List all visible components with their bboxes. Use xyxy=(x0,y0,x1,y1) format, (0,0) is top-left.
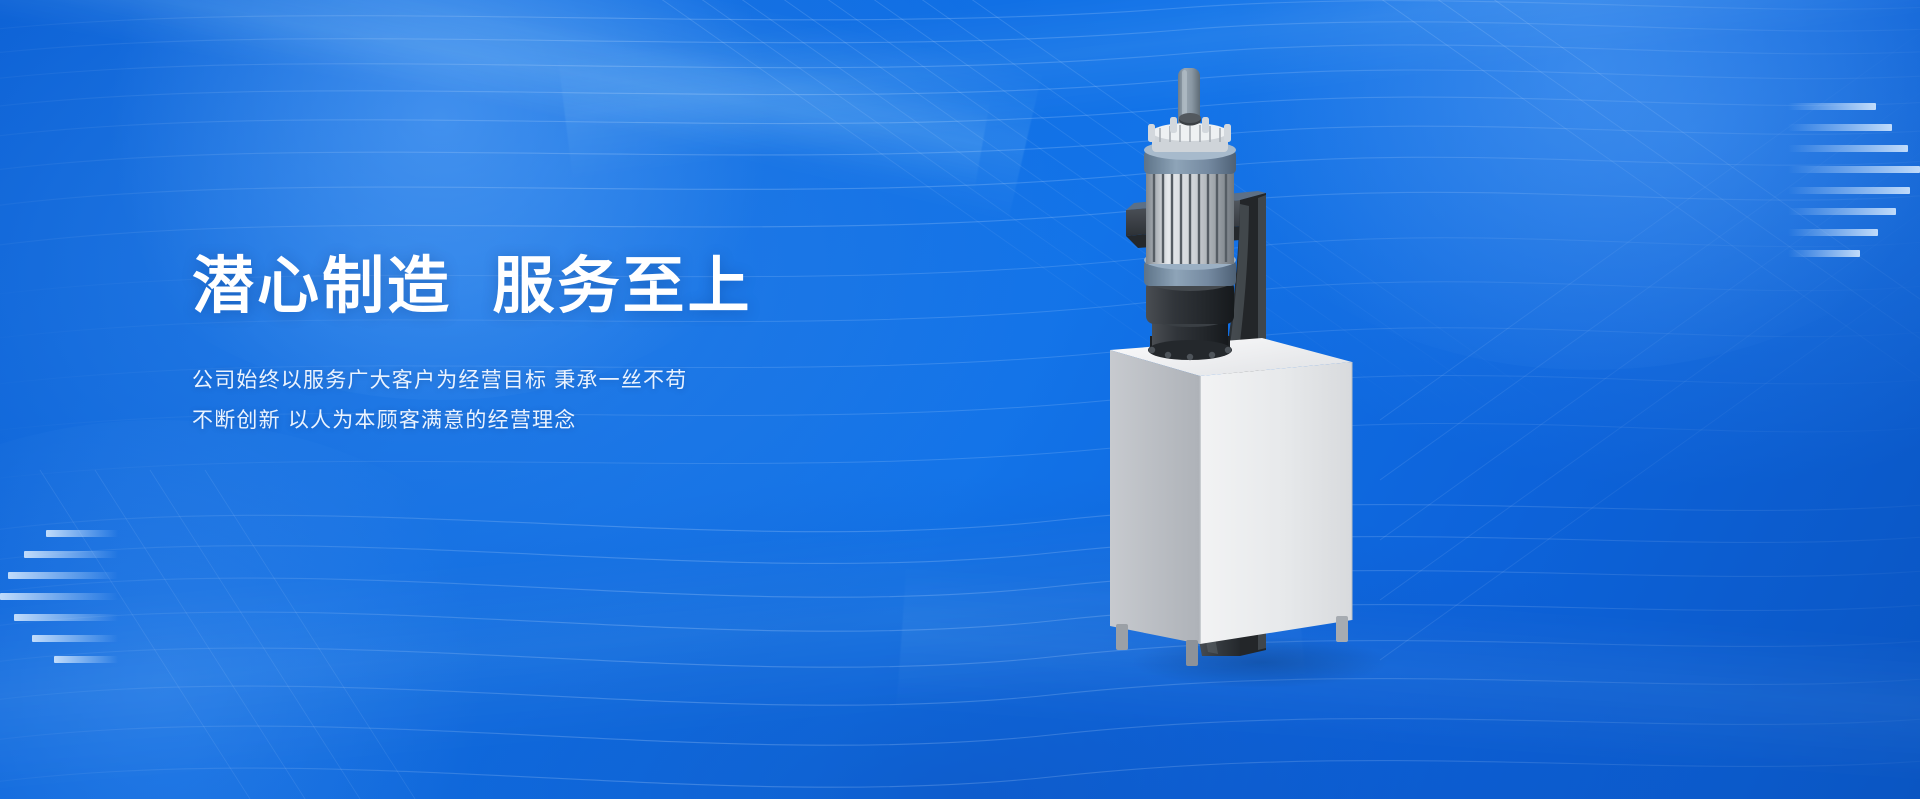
decor-bar xyxy=(1788,166,1920,173)
decor-bars-left xyxy=(0,530,118,677)
decor-bar xyxy=(1788,145,1908,152)
decor-bar xyxy=(54,656,118,663)
background-glow xyxy=(0,420,540,799)
decor-bar xyxy=(46,530,118,537)
decor-bar xyxy=(32,635,118,642)
page-title: 潜心制造 服务至上 xyxy=(192,252,912,321)
decor-bars-right xyxy=(1788,103,1920,271)
background-ribbon xyxy=(0,0,1042,221)
subtitle-line-1: 公司始终以服务广大客户为经营目标 秉承一丝不苟 xyxy=(192,361,912,401)
background-ribbon xyxy=(0,0,990,190)
decor-bar xyxy=(1788,187,1910,194)
decor-bar xyxy=(1788,250,1860,257)
decor-bar xyxy=(1788,229,1878,236)
decor-bar xyxy=(1788,208,1896,215)
decor-bar xyxy=(0,593,118,600)
hero-subtitle: 公司始终以服务广大客户为经营目标 秉承一丝不苟 不断创新 以人为本顾客满意的经营… xyxy=(192,361,912,441)
industrial-press-machine-icon xyxy=(1090,50,1420,710)
decor-bar xyxy=(1788,124,1892,131)
decor-bar xyxy=(8,572,118,579)
decor-bar xyxy=(24,551,118,558)
decor-bar xyxy=(14,614,118,621)
hero-banner: 潜心制造 服务至上 公司始终以服务广大客户为经营目标 秉承一丝不苟 不断创新 以… xyxy=(0,0,1920,799)
hero-copy: 潜心制造 服务至上 公司始终以服务广大客户为经营目标 秉承一丝不苟 不断创新 以… xyxy=(192,252,912,441)
decor-bar xyxy=(1788,103,1876,110)
subtitle-line-2: 不断创新 以人为本顾客满意的经营理念 xyxy=(192,401,912,441)
